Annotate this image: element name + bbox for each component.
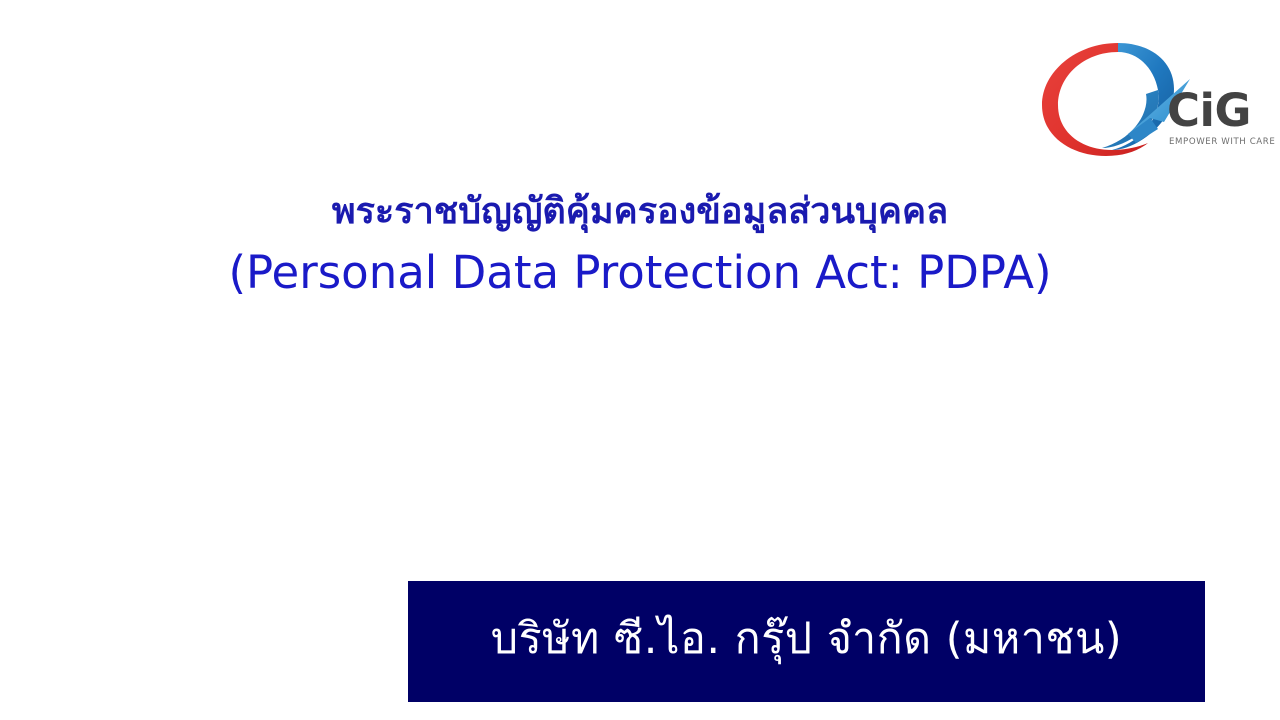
company-name-banner: บริษัท ซี.ไอ. กรุ๊ป จำกัด (มหาชน)	[408, 581, 1205, 702]
slide-title-thai: พระราชบัญญัติคุ้มครองข้อมูลส่วนบุคคล	[0, 186, 1280, 238]
slide-title-english: (Personal Data Protection Act: PDPA)	[0, 242, 1280, 304]
cig-logo: CiG EMPOWER WITH CARE	[1032, 30, 1264, 162]
company-name-text: บริษัท ซี.ไอ. กรุ๊ป จำกัด (มหาชน)	[491, 611, 1122, 673]
logo-tagline-text: EMPOWER WITH CARE	[1169, 137, 1267, 148]
logo-name-text: CiG	[1167, 88, 1267, 134]
slide-title-group: พระราชบัญญัติคุ้มครองข้อมูลส่วนบุคคล (Pe…	[0, 186, 1280, 304]
cig-wordmark: CiG EMPOWER WITH CARE	[1167, 88, 1267, 148]
presentation-slide: CiG EMPOWER WITH CARE พระราชบัญญัติคุ้มค…	[0, 0, 1280, 720]
